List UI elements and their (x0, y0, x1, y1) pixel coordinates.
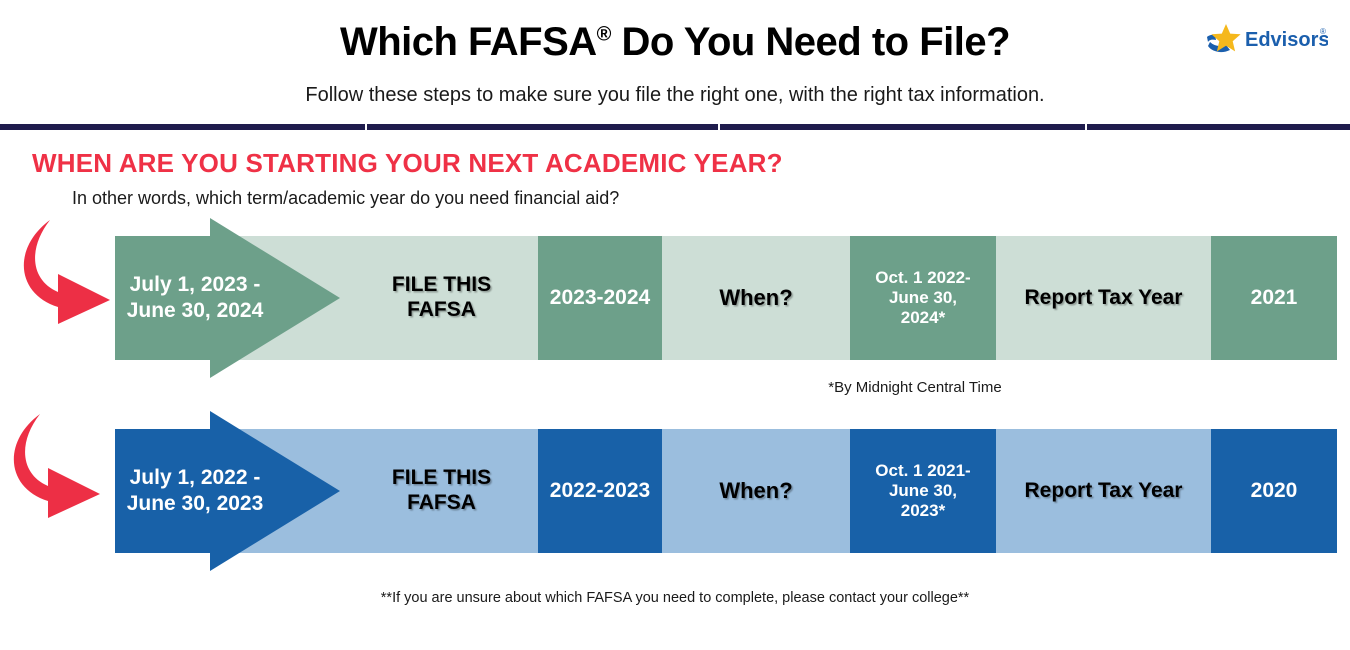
midnight-footnote: *By Midnight Central Time (0, 379, 1350, 396)
blue-report-tax-year-cell: Report Tax Year (996, 429, 1211, 553)
green-arrow-line2: - (253, 273, 260, 296)
green-deadline-line2: June 30, (875, 288, 970, 308)
divider-nick (1085, 124, 1087, 130)
blue-arrow-line1: July 1, 2022 (130, 466, 248, 489)
blue-tax-year: 2020 (1251, 479, 1298, 504)
blue-deadline-line3: 2023* (875, 501, 970, 521)
page-title-main: Which FAFSA (340, 20, 597, 64)
page-title: Which FAFSA® Do You Need to File? (0, 20, 1350, 65)
header-divider (0, 124, 1350, 130)
green-file-this-cell: FILE THIS FAFSA (345, 236, 538, 360)
green-deadline-line3: 2024* (875, 308, 970, 328)
blue-deadline-cell: Oct. 1 2021- June 30, 2023* (850, 429, 996, 553)
blue-file-this-line1: FILE THIS (392, 466, 491, 491)
blue-award-year-cell: 2022-2023 (538, 429, 662, 553)
green-arrow-line3: June 30, 2024 (127, 299, 264, 322)
green-when-label: When? (719, 285, 792, 311)
blue-arrow-line3: June 30, 2023 (127, 492, 264, 515)
infographic-canvas: Which FAFSA® Do You Need to File? Follow… (0, 0, 1350, 650)
green-award-year: 2023-2024 (550, 286, 650, 311)
divider-nick (365, 124, 367, 130)
green-row: July 1, 2023 - June 30, 2024 FILE THIS F… (0, 236, 1350, 360)
green-deadline-cell: Oct. 1 2022- June 30, 2024* (850, 236, 996, 360)
green-award-year-cell: 2023-2024 (538, 236, 662, 360)
section-heading: WHEN ARE YOU STARTING YOUR NEXT ACADEMIC… (32, 148, 783, 179)
edvisors-logo[interactable]: Edvisors ® (1206, 22, 1328, 56)
blue-report-tax-year-label: Report Tax Year (1025, 479, 1183, 504)
green-arrow-line1: July 1, 2023 (130, 273, 248, 296)
page-title-tail: Do You Need to File? (611, 20, 1010, 64)
green-file-this-line2: FAFSA (392, 298, 491, 323)
blue-when-label: When? (719, 478, 792, 504)
green-deadline-line1: Oct. 1 2022- (875, 268, 970, 288)
header: Which FAFSA® Do You Need to File? Follow… (0, 0, 1350, 126)
green-report-tax-year-label: Report Tax Year (1025, 286, 1183, 311)
green-arrow-label: July 1, 2023 - June 30, 2024 (115, 236, 275, 360)
green-tax-year: 2021 (1251, 286, 1298, 311)
blue-file-this-line2: FAFSA (392, 491, 491, 516)
logo-svg: Edvisors ® (1206, 22, 1328, 56)
blue-tax-year-cell: 2020 (1211, 429, 1337, 553)
green-when-cell: When? (662, 236, 850, 360)
blue-arrow-label: July 1, 2022 - June 30, 2023 (115, 429, 275, 553)
blue-deadline-line1: Oct. 1 2021- (875, 461, 970, 481)
blue-deadline-line2: June 30, (875, 481, 970, 501)
green-row-arrow: July 1, 2023 - June 30, 2024 (115, 236, 340, 360)
blue-when-cell: When? (662, 429, 850, 553)
section-subheading: In other words, which term/academic year… (72, 188, 619, 209)
blue-row-arrow: July 1, 2022 - June 30, 2023 (115, 429, 340, 553)
blue-file-this-cell: FILE THIS FAFSA (345, 429, 538, 553)
blue-arrow-line2: - (253, 466, 260, 489)
blue-row: July 1, 2022 - June 30, 2023 FILE THIS F… (0, 429, 1350, 553)
green-report-tax-year-cell: Report Tax Year (996, 236, 1211, 360)
page-subtitle: Follow these steps to make sure you file… (0, 84, 1350, 107)
divider-nick (718, 124, 720, 130)
bottom-footnote: **If you are unsure about which FAFSA yo… (0, 590, 1350, 606)
registered-mark-icon: ® (597, 24, 611, 46)
logo-registered-icon: ® (1320, 27, 1326, 36)
logo-wordmark: Edvisors (1245, 29, 1328, 51)
green-file-this-line1: FILE THIS (392, 273, 491, 298)
blue-award-year: 2022-2023 (550, 479, 650, 504)
green-tax-year-cell: 2021 (1211, 236, 1337, 360)
